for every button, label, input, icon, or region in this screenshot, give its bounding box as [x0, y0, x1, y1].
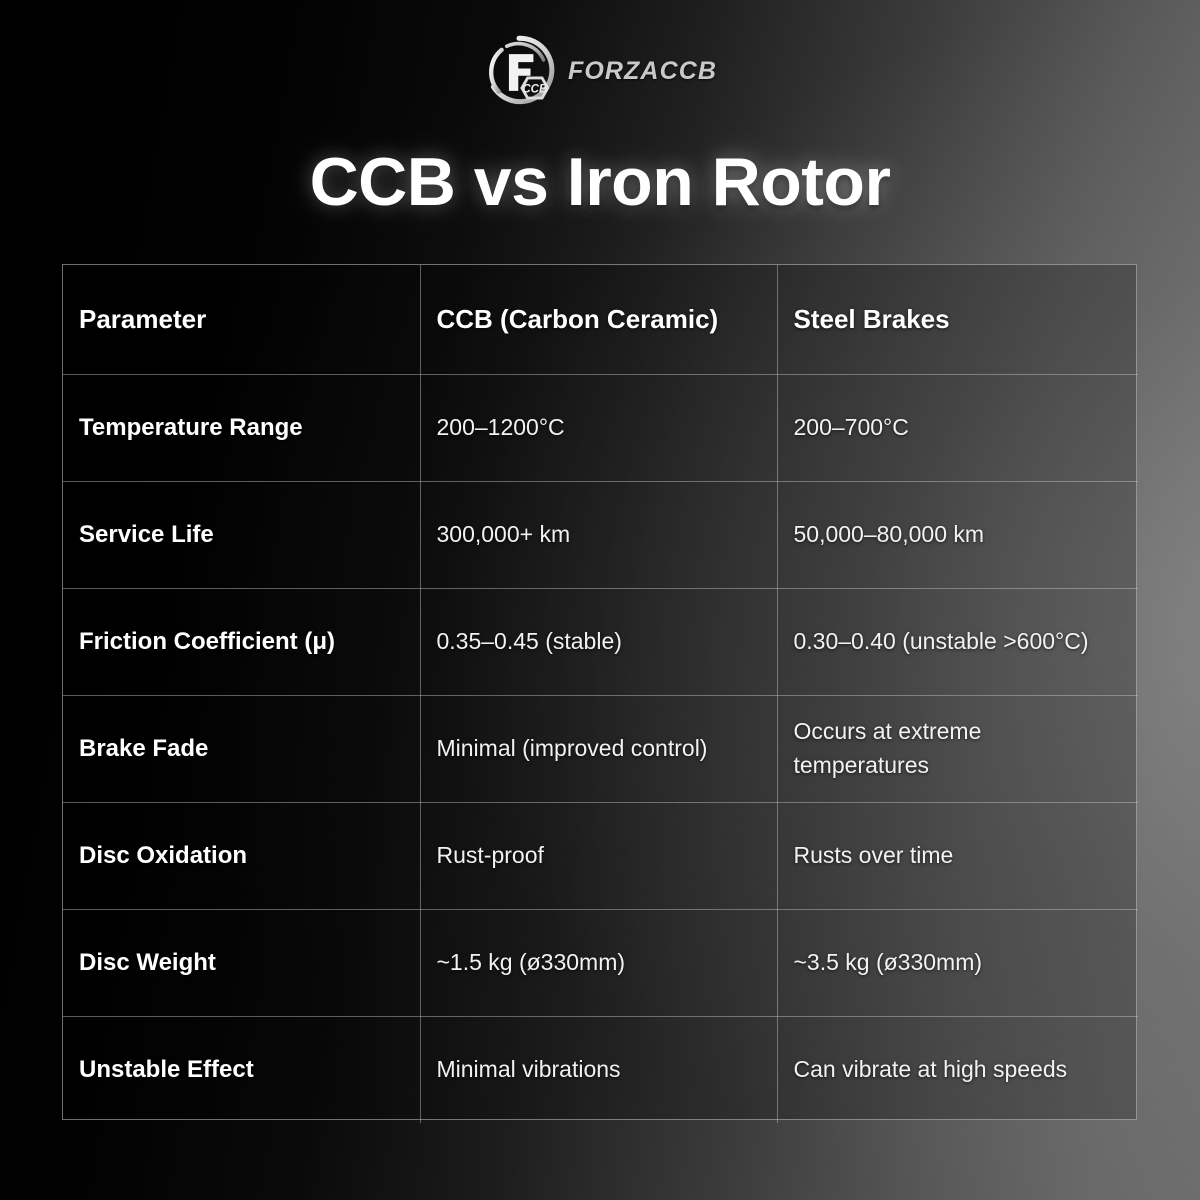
table-row: Friction Coefficient (μ) 0.35–0.45 (stab…: [63, 588, 1138, 695]
cell-parameter: Unstable Effect: [63, 1016, 420, 1123]
poster-canvas: CCB FORZACCB CCB vs Iron Rotor Parameter…: [0, 0, 1200, 1200]
forzaccb-swirl-f-logo-icon: CCB: [483, 34, 555, 106]
comparison-table-container: Parameter CCB (Carbon Ceramic) Steel Bra…: [62, 264, 1137, 1120]
column-header-parameter: Parameter: [63, 265, 420, 374]
cell-steel-value: 0.30–0.40 (unstable >600°C): [777, 588, 1138, 695]
table-header-row: Parameter CCB (Carbon Ceramic) Steel Bra…: [63, 265, 1138, 374]
page-title: CCB vs Iron Rotor: [0, 146, 1200, 219]
column-header-steel: Steel Brakes: [777, 265, 1138, 374]
cell-parameter: Brake Fade: [63, 695, 420, 802]
cell-ccb-value: Minimal vibrations: [420, 1016, 777, 1123]
brand-wordmark: FORZACCB: [568, 57, 717, 84]
cell-steel-value: Occurs at extreme temperatures: [777, 695, 1138, 802]
cell-parameter: Disc Weight: [63, 909, 420, 1016]
cell-steel-value: 200–700°C: [777, 374, 1138, 481]
comparison-table: Parameter CCB (Carbon Ceramic) Steel Bra…: [63, 265, 1138, 1123]
table-row: Brake Fade Minimal (improved control) Oc…: [63, 695, 1138, 802]
cell-ccb-value: Rust-proof: [420, 802, 777, 909]
cell-steel-value: ~3.5 kg (ø330mm): [777, 909, 1138, 1016]
table-row: Service Life 300,000+ km 50,000–80,000 k…: [63, 481, 1138, 588]
cell-ccb-value: Minimal (improved control): [420, 695, 777, 802]
cell-steel-value: Can vibrate at high speeds: [777, 1016, 1138, 1123]
table-row: Disc Weight ~1.5 kg (ø330mm) ~3.5 kg (ø3…: [63, 909, 1138, 1016]
cell-parameter: Friction Coefficient (μ): [63, 588, 420, 695]
table-row: Disc Oxidation Rust-proof Rusts over tim…: [63, 802, 1138, 909]
cell-parameter: Temperature Range: [63, 374, 420, 481]
cell-steel-value: Rusts over time: [777, 802, 1138, 909]
column-header-ccb: CCB (Carbon Ceramic): [420, 265, 777, 374]
cell-parameter: Disc Oxidation: [63, 802, 420, 909]
cell-ccb-value: 300,000+ km: [420, 481, 777, 588]
cell-ccb-value: 200–1200°C: [420, 374, 777, 481]
svg-text:CCB: CCB: [522, 83, 547, 95]
cell-parameter: Service Life: [63, 481, 420, 588]
table-row: Unstable Effect Minimal vibrations Can v…: [63, 1016, 1138, 1123]
cell-steel-value: 50,000–80,000 km: [777, 481, 1138, 588]
brand-lockup: CCB FORZACCB: [0, 34, 1200, 106]
cell-ccb-value: 0.35–0.45 (stable): [420, 588, 777, 695]
table-row: Temperature Range 200–1200°C 200–700°C: [63, 374, 1138, 481]
cell-ccb-value: ~1.5 kg (ø330mm): [420, 909, 777, 1016]
